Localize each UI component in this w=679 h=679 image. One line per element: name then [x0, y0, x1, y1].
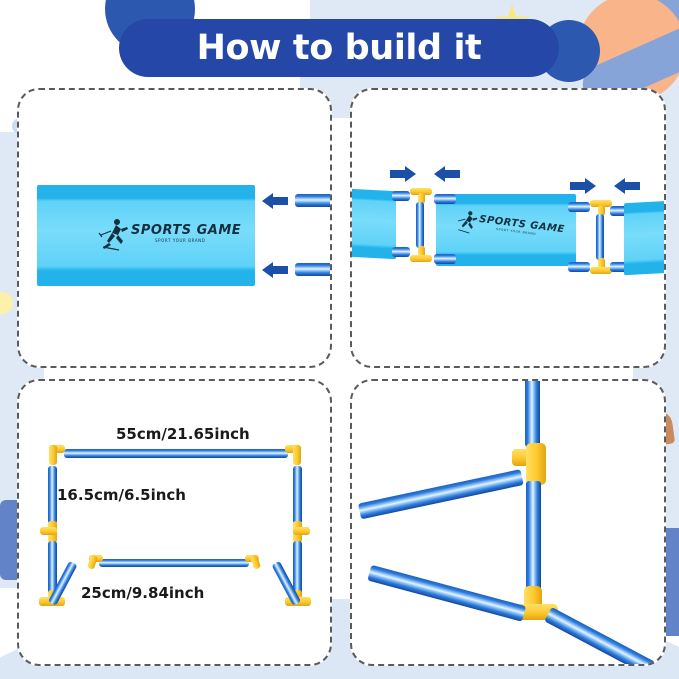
net-panel-main: SPORTS GAME SPORT YOUR BRAND — [37, 185, 255, 286]
push-arrow-right-inner — [570, 178, 596, 194]
logo-subtext-center: SPORT YOUR BRAND — [496, 227, 536, 236]
hockey-player-icon-center — [454, 208, 483, 235]
rod-bottom-insert — [295, 263, 330, 276]
push-arrow-right-outer — [614, 178, 640, 194]
step-panel-4 — [350, 379, 666, 666]
step-panel-2: SPORTS GAME SPORT YOUR BRAND — [350, 88, 666, 368]
logo-text-center: SPORTS GAME — [479, 214, 566, 235]
sports-game-logo: SPORTS GAME SPORT YOUR BRAND — [97, 217, 217, 251]
frame-upright-right-upper — [293, 466, 302, 524]
page-title-banner: How to build it — [119, 19, 559, 77]
dimension-label-depth: 25cm/9.84inch — [81, 584, 204, 602]
insert-arrow-bottom — [262, 262, 288, 278]
rod-left-bottom-stub — [392, 247, 410, 257]
frame-base-bar — [99, 559, 249, 567]
elbow-connector-base-left — [87, 555, 103, 573]
rod-center-top-left — [434, 194, 456, 204]
dimension-label-height: 16.5cm/6.5inch — [57, 486, 186, 504]
joint-rod-middle — [526, 481, 541, 591]
frame-top-bar — [64, 449, 288, 458]
logo-text: SPORTS GAME — [131, 223, 241, 238]
joint-rod-lower-left-diagonal — [367, 565, 526, 622]
logo-subtext: SPORT YOUR BRAND — [155, 238, 205, 243]
rod-left-top-stub — [392, 191, 410, 201]
page-root: How to build it — [0, 0, 679, 679]
step-panel-1: SPORTS GAME SPORT YOUR BRAND — [17, 88, 332, 368]
net-panel-center: SPORTS GAME SPORT YOUR BRAND — [436, 194, 576, 266]
net-panel-left — [352, 189, 396, 259]
frame-upright-left-upper — [48, 466, 57, 524]
joint-rod-top — [525, 381, 540, 447]
hockey-player-icon — [97, 217, 133, 251]
rod-top-insert — [295, 194, 330, 207]
insert-arrow-top — [262, 193, 288, 209]
t-connector-right-bottom — [590, 258, 612, 274]
rod-center-top-right — [568, 202, 590, 212]
dimension-label-top: 55cm/21.65inch — [116, 425, 250, 443]
push-arrow-left-outer — [390, 166, 416, 182]
sports-game-logo-center: SPORTS GAME SPORT YOUR BRAND — [452, 208, 555, 254]
t-connector-left-bottom — [410, 246, 432, 262]
elbow-connector-base-right — [245, 555, 261, 573]
joint-rod-lower-right-diagonal — [544, 607, 656, 664]
frame-upright-right-lower — [293, 541, 302, 595]
net-panel-right — [624, 201, 664, 275]
t-connector-right-mid — [286, 521, 310, 543]
rod-center-bottom-left — [434, 254, 456, 264]
page-title: How to build it — [197, 28, 482, 68]
t-connector-left-mid — [40, 521, 64, 543]
push-arrow-left-inner — [434, 166, 460, 182]
post-right-vertical — [596, 214, 604, 260]
joint-rod-upper-left-diagonal — [358, 469, 524, 519]
elbow-connector-top-right — [285, 445, 305, 467]
elbow-connector-top-left — [45, 445, 65, 467]
rod-center-bottom-right — [568, 262, 590, 272]
post-left-vertical — [416, 202, 424, 248]
step-panel-3: 55cm/21.65inch 16.5cm/6.5inch 25cm/9.84i… — [17, 379, 332, 666]
